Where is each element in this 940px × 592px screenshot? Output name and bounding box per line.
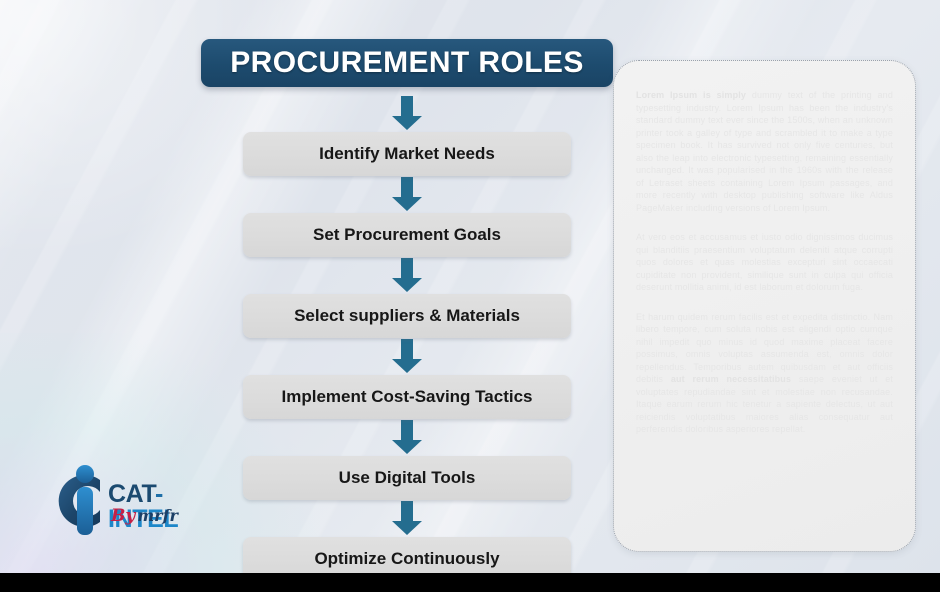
flow-step-label: Optimize Continuously — [314, 549, 499, 569]
body-paragraph-1-rest: dummy text of the printing and typesetti… — [636, 90, 893, 213]
bottom-letterbox — [0, 573, 940, 592]
flow-step-label: Use Digital Tools — [339, 468, 476, 488]
body-paragraph-3-strong: aut rerum necessitatibus — [671, 374, 791, 384]
logo-byline-by: By — [111, 506, 135, 526]
body-paragraph-3: Et harum quidem rerum facilis est et exp… — [636, 311, 893, 436]
flow-step-label: Select suppliers & Materials — [294, 306, 520, 326]
flow-step-label: Implement Cost-Saving Tactics — [282, 387, 533, 407]
body-text-panel: Lorem Ipsum is simply dummy text of the … — [613, 60, 916, 552]
brand-logo[interactable]: CAT-INTEL Bymrfr — [48, 460, 228, 545]
body-paragraph-1-lead: Lorem Ipsum is simply — [636, 90, 746, 100]
flow-step-5[interactable]: Use Digital Tools — [243, 456, 571, 500]
flow-step-1[interactable]: Identify Market Needs — [243, 132, 571, 176]
slide-title-banner: PROCUREMENT ROLES — [201, 39, 613, 87]
flow-step-label: Identify Market Needs — [319, 144, 495, 164]
slide-canvas: PROCUREMENT ROLES Identify Market Needs … — [0, 0, 940, 573]
flow-step-label: Set Procurement Goals — [313, 225, 501, 245]
flow-arrow-0 — [243, 95, 571, 132]
page-title: PROCUREMENT ROLES — [230, 46, 584, 80]
flow-arrow-1 — [243, 176, 571, 213]
logo-word-cat: CAT — [108, 480, 155, 508]
flow-step-3[interactable]: Select suppliers & Materials — [243, 294, 571, 338]
flow-arrow-5 — [243, 500, 571, 537]
body-paragraph-2: At vero eos et accusamus et iusto odio d… — [636, 231, 893, 294]
flow-arrow-3 — [243, 338, 571, 375]
body-paragraph-1: Lorem Ipsum is simply dummy text of the … — [636, 89, 893, 214]
flow-step-4[interactable]: Implement Cost-Saving Tactics — [243, 375, 571, 419]
logo-word-dash: - — [155, 480, 163, 508]
flow-step-2[interactable]: Set Procurement Goals — [243, 213, 571, 257]
flow-arrow-4 — [243, 419, 571, 456]
logo-byline-brand: mrfr — [137, 506, 178, 525]
logo-byline: Bymrfr — [111, 508, 178, 525]
flow-step-6[interactable]: Optimize Continuously — [243, 537, 571, 573]
process-flow-diagram: Identify Market Needs Set Procurement Go… — [243, 95, 571, 573]
flow-arrow-2 — [243, 257, 571, 294]
